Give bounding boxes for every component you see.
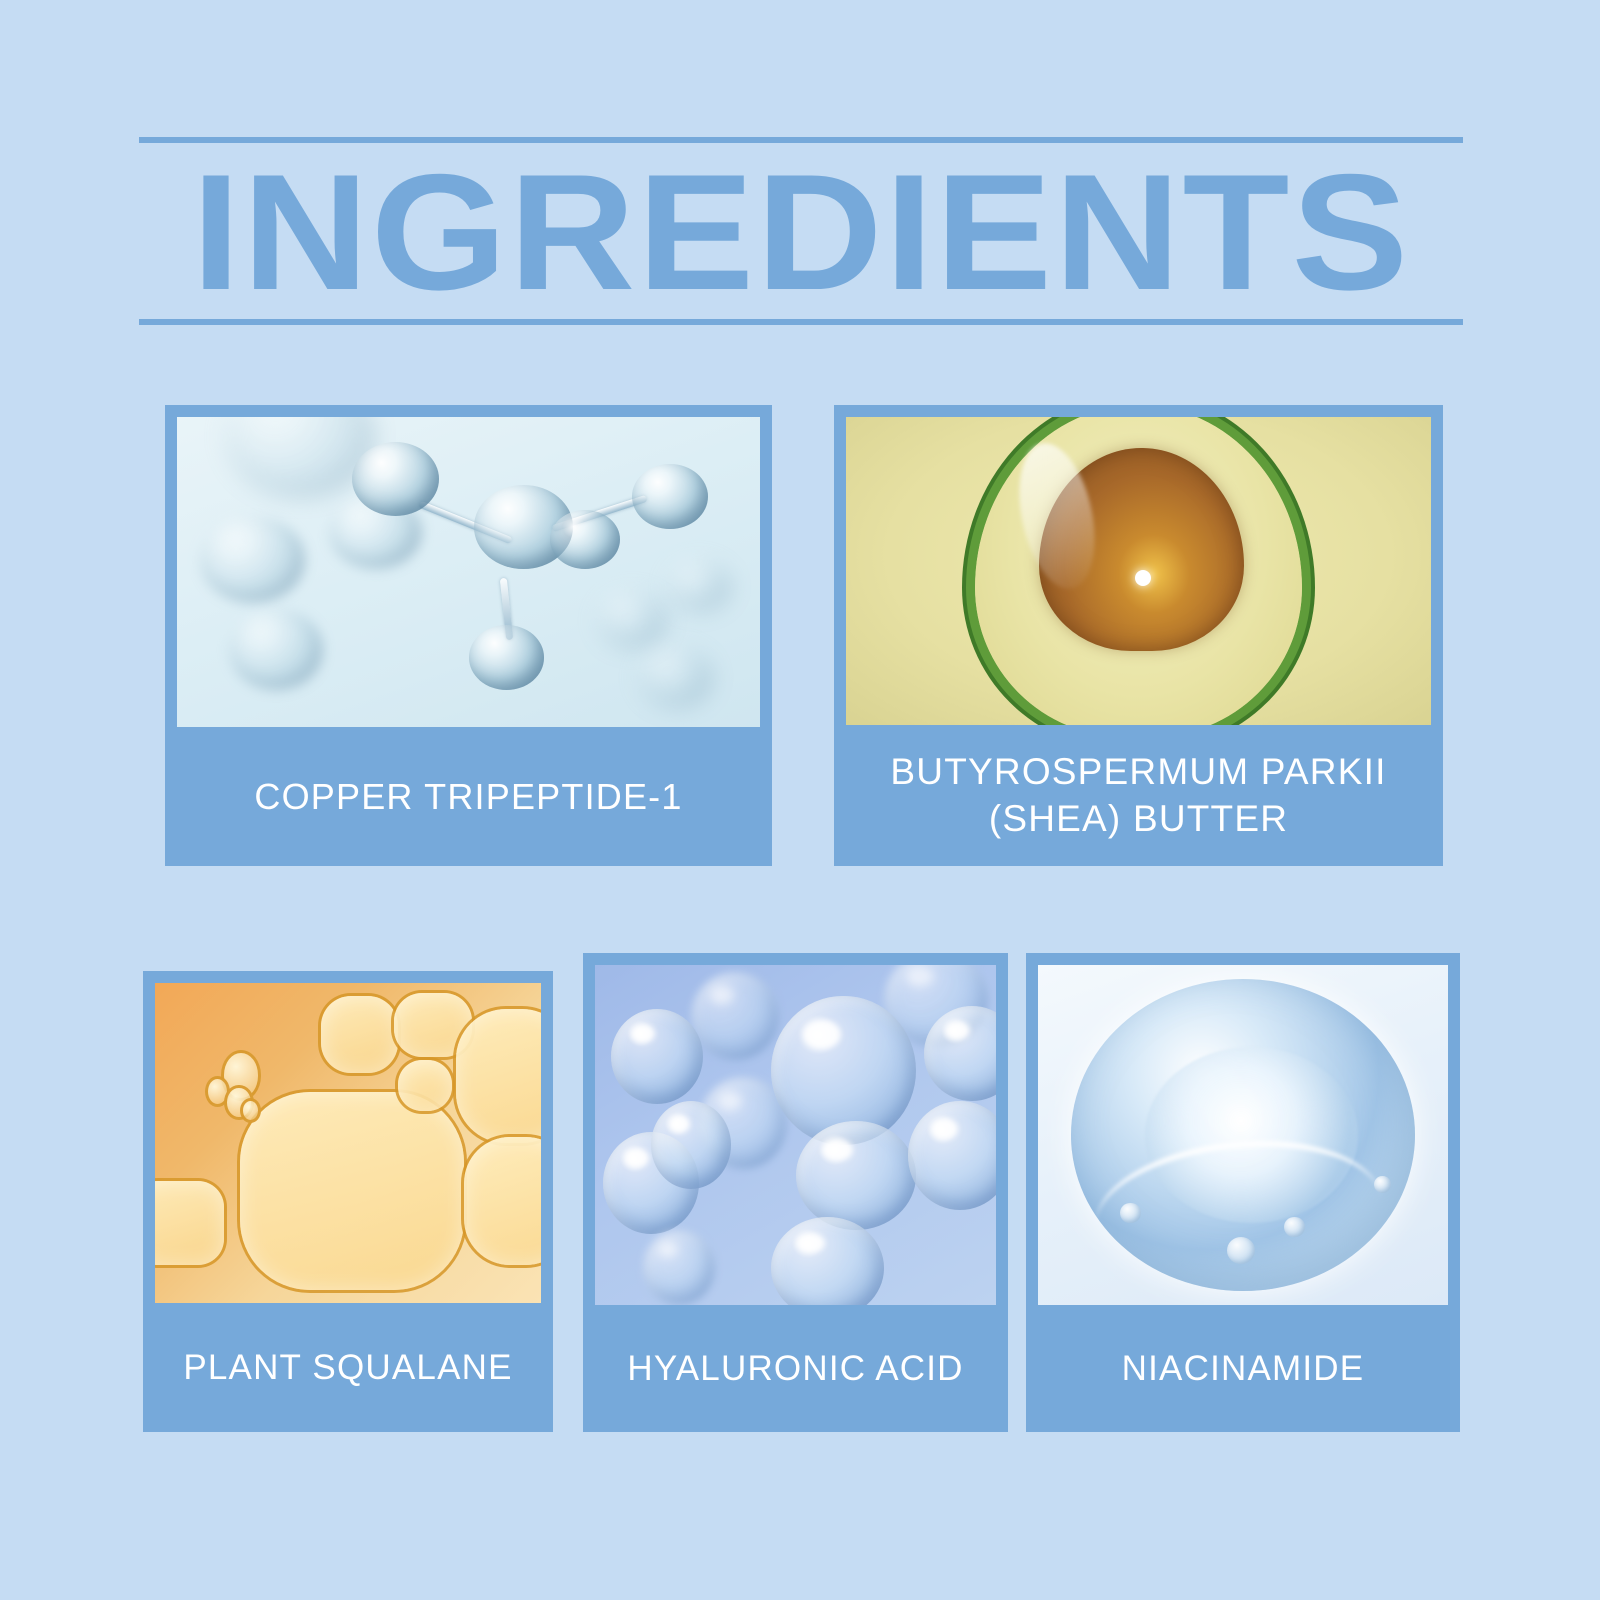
ingredient-card-niacinamide[interactable]: NIACINAMIDE (1026, 953, 1460, 1432)
avocado-half-photo (846, 417, 1431, 725)
ingredient-card-plant-squalane[interactable]: PLANT SQUALANE (143, 971, 553, 1432)
oil-bubbles-illustration (155, 983, 541, 1303)
ingredient-label: BUTYROSPERMUM PARKII (SHEA) BUTTER (834, 725, 1443, 866)
bubbles-illustration (595, 965, 996, 1305)
golden-oil-bubbles-photo (155, 983, 541, 1303)
ingredient-card-shea-butter[interactable]: BUTYROSPERMUM PARKII (SHEA) BUTTER (834, 405, 1443, 866)
blue-water-bubbles-photo (595, 965, 996, 1305)
ingredient-label: HYALURONIC ACID (583, 1305, 1008, 1432)
header: INGREDIENTS (139, 137, 1463, 325)
droplet-illustration (1038, 965, 1448, 1305)
ingredient-label: COPPER TRIPEPTIDE-1 (165, 727, 772, 866)
avocado-illustration (846, 417, 1431, 725)
ingredient-card-copper-tripeptide-1[interactable]: COPPER TRIPEPTIDE-1 (165, 405, 772, 866)
molecule-illustration (177, 417, 760, 727)
molecule-spheres-photo (177, 417, 760, 727)
ingredient-label: NIACINAMIDE (1026, 1305, 1460, 1432)
page-title: INGREDIENTS (99, 143, 1502, 319)
water-droplet-sphere-photo (1038, 965, 1448, 1305)
ingredient-label: PLANT SQUALANE (143, 1303, 553, 1432)
ingredients-infographic: INGREDIENTS COPPER TRI (0, 0, 1600, 1600)
ingredient-card-hyaluronic-acid[interactable]: HYALURONIC ACID (583, 953, 1008, 1432)
